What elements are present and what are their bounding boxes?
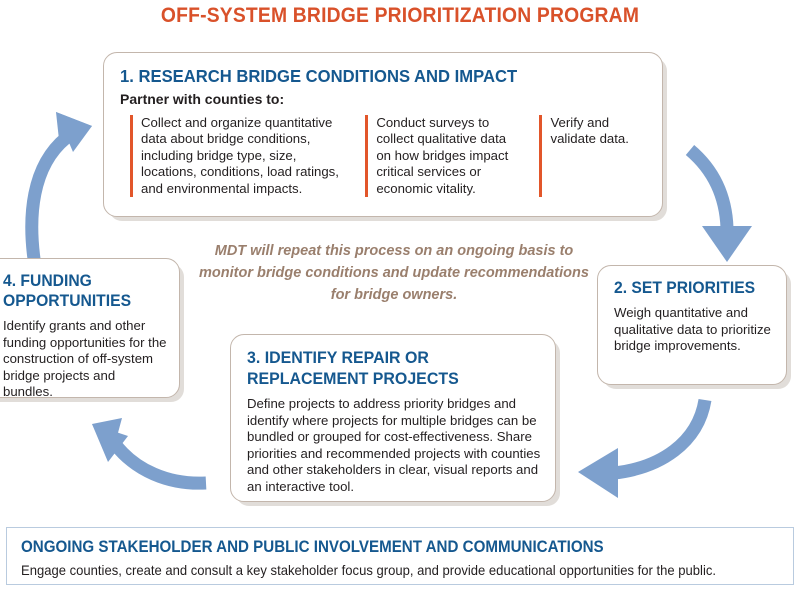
banner-heading: ONGOING STAKEHOLDER AND PUBLIC INVOLVEME… — [21, 537, 739, 557]
step-1-bullet-2: Conduct surveys to collect qualitative d… — [365, 115, 521, 197]
step-1-heading: 1. RESEARCH BRIDGE CONDITIONS AND IMPACT — [120, 65, 620, 87]
step-4-heading: 4. FUNDING OPPORTUNITIES — [3, 271, 159, 311]
step-3-body: Define projects to address priority brid… — [247, 396, 541, 496]
arrow-left-up-to-step1 — [32, 112, 92, 272]
arrow-bottom-left-to-step4 — [92, 418, 206, 483]
infographic-canvas: OFF-SYSTEM BRIDGE PRIORITIZATION PROGRAM… — [0, 0, 800, 592]
step-1-lead: Partner with counties to: — [120, 91, 646, 108]
recurring-process-note: MDT will repeat this process on an ongoi… — [196, 240, 592, 306]
step-box-2-set-priorities: 2. SET PRIORITIES Weigh quantitative and… — [597, 265, 787, 385]
step-3-heading: 3. IDENTIFY REPAIR OR REPLACEMENT PROJEC… — [247, 348, 526, 389]
arrow-bottom-right-to-step3 — [578, 400, 705, 498]
ongoing-engagement-banner: ONGOING STAKEHOLDER AND PUBLIC INVOLVEME… — [6, 527, 794, 585]
step-box-4-funding: 4. FUNDING OPPORTUNITIES Identify grants… — [0, 258, 180, 398]
step-2-heading: 2. SET PRIORITIES — [614, 278, 764, 298]
step-2-body: Weigh quantitative and qualitative data … — [614, 305, 772, 355]
step-1-bullet-1: Collect and organize quantitative data a… — [130, 115, 347, 197]
step-box-3-identify-projects: 3. IDENTIFY REPAIR OR REPLACEMENT PROJEC… — [230, 334, 556, 502]
arrow-right-down-to-step2 — [690, 150, 752, 262]
step-1-bullet-3: Verify and validate data. — [539, 115, 646, 197]
step-4-body: Identify grants and other funding opport… — [3, 318, 167, 401]
banner-body: Engage counties, create and consult a ke… — [21, 562, 762, 580]
step-box-1-research: 1. RESEARCH BRIDGE CONDITIONS AND IMPACT… — [103, 52, 663, 217]
step-1-bullet-columns: Collect and organize quantitative data a… — [120, 115, 646, 197]
page-title: OFF-SYSTEM BRIDGE PRIORITIZATION PROGRAM — [32, 4, 768, 28]
